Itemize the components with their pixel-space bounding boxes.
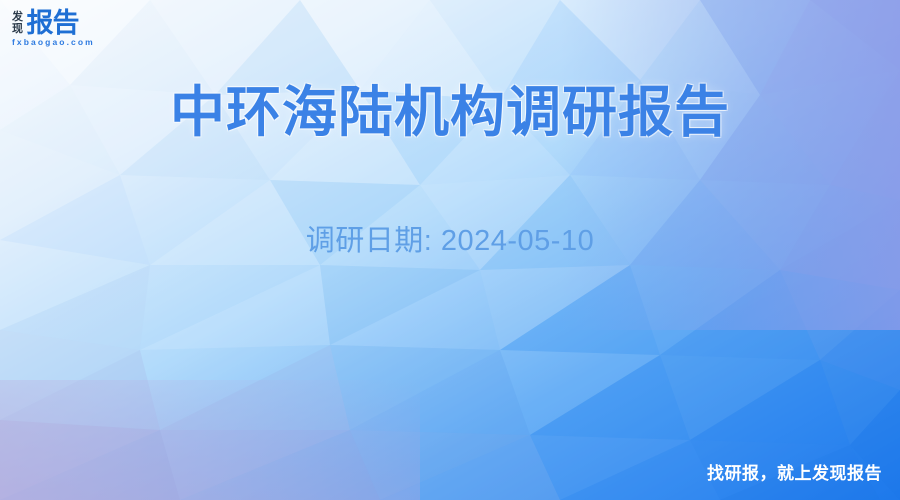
research-date-subtitle: 调研日期: 2024-05-10 (0, 146, 900, 258)
page-title: 中环海陆机构调研报告 (0, 78, 900, 146)
footer-tagline: 找研报，就上发现报告 (707, 464, 882, 484)
logo-char-xian: 现 (12, 23, 23, 35)
report-cover-slide: 发 现 报告 fxbaogao.com 中环海陆机构调研报告 调研日期: 202… (0, 0, 900, 500)
cover-title-block: 中环海陆机构调研报告 调研日期: 2024-05-10 (0, 78, 900, 258)
logo-wordmark: 报告 (27, 9, 79, 37)
logo-stacked-characters: 发 现 (12, 9, 23, 35)
logo-website-url: fxbaogao.com (12, 37, 95, 47)
fxbaogao-logo[interactable]: 发 现 报告 (12, 9, 79, 37)
logo-char-fa: 发 (12, 11, 23, 23)
